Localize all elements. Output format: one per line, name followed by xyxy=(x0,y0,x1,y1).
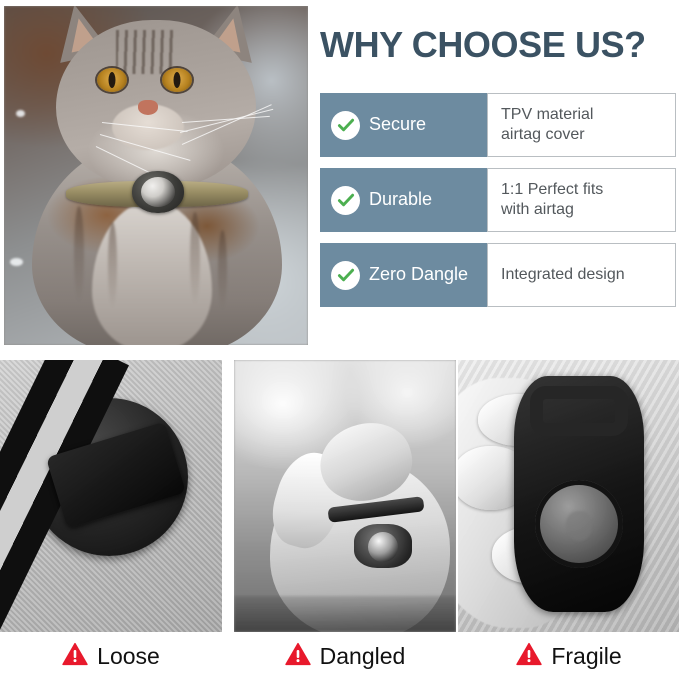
feature-description-cell: Integrated design xyxy=(487,243,676,307)
holder-loop xyxy=(530,386,628,436)
cat-eye-right xyxy=(162,68,192,92)
snow-dot xyxy=(10,258,23,266)
feature-label-cell: Secure xyxy=(320,93,487,157)
ground-shadow xyxy=(234,596,456,632)
airtag-disc xyxy=(368,532,398,562)
comparison-section: Loose Dangled xyxy=(0,360,679,676)
cat-wearing-airtag-collar-photo xyxy=(4,6,308,345)
fur-streak xyxy=(108,222,117,308)
feature-table: Secure TPV material airtag cover Durable xyxy=(320,93,676,307)
cracked-airtag-in-hand-photo xyxy=(458,360,679,632)
airtag-face xyxy=(141,177,175,207)
feature-label: Secure xyxy=(369,115,426,135)
comparison-item: Dangled xyxy=(234,360,456,632)
hero-scene xyxy=(4,6,308,345)
apple-logo-icon xyxy=(566,511,592,541)
fur-streak xyxy=(218,230,227,310)
warning-triangle-icon xyxy=(516,642,542,671)
comparison-label-row: Dangled xyxy=(234,636,456,676)
comparison-label: Fragile xyxy=(551,645,621,668)
comparison-label: Dangled xyxy=(320,645,406,668)
fur-streak xyxy=(190,212,200,304)
fur-streak xyxy=(74,206,84,302)
feature-description-cell: TPV material airtag cover xyxy=(487,93,676,157)
comparison-label: Loose xyxy=(97,645,160,668)
loose-holder-on-collar-photo xyxy=(0,360,222,632)
page-title: WHY CHOOSE US? xyxy=(320,24,676,66)
feature-description-line: airtag cover xyxy=(501,125,593,145)
warning-triangle-icon xyxy=(62,642,88,671)
check-circle-icon xyxy=(331,186,360,215)
feature-label: Durable xyxy=(369,190,432,210)
comparison-item: Fragile xyxy=(458,360,679,632)
cat-forehead-stripes xyxy=(116,30,178,74)
feature-description-line: 1:1 Perfect fits xyxy=(501,180,603,200)
cat-with-dangling-tag-photo xyxy=(234,360,456,632)
cat-pupil-left xyxy=(109,72,116,88)
feature-row: Secure TPV material airtag cover xyxy=(320,93,676,157)
airtag-holder-shape xyxy=(514,376,644,612)
feature-row: Durable 1:1 Perfect fits with airtag xyxy=(320,168,676,232)
feature-description-cell: 1:1 Perfect fits with airtag xyxy=(487,168,676,232)
top-section: WHY CHOOSE US? Secure TPV material airta… xyxy=(0,0,679,348)
airtag-holder xyxy=(132,171,184,213)
cat-pupil-right xyxy=(174,72,181,88)
cat-nose xyxy=(138,100,158,115)
feature-description-line: TPV material xyxy=(501,105,593,125)
cracked-airtag-disc xyxy=(535,480,623,568)
comparison-label-row: Fragile xyxy=(458,636,679,676)
snow-dot xyxy=(16,110,25,117)
feature-row: Zero Dangle Integrated design xyxy=(320,243,676,307)
comparison-label-row: Loose xyxy=(0,636,222,676)
check-circle-icon xyxy=(331,111,360,140)
warning-triangle-icon xyxy=(285,642,311,671)
comparison-item: Loose xyxy=(0,360,222,632)
product-infographic: { "header": { "title": "WHY CHOOSE US?",… xyxy=(0,0,679,676)
feature-description-line: Integrated design xyxy=(501,265,625,285)
check-circle-icon xyxy=(331,261,360,290)
feature-label: Zero Dangle xyxy=(369,265,468,285)
feature-label-cell: Durable xyxy=(320,168,487,232)
cat-eye-left xyxy=(97,68,127,92)
feature-description-line: with airtag xyxy=(501,200,603,220)
feature-label-cell: Zero Dangle xyxy=(320,243,487,307)
